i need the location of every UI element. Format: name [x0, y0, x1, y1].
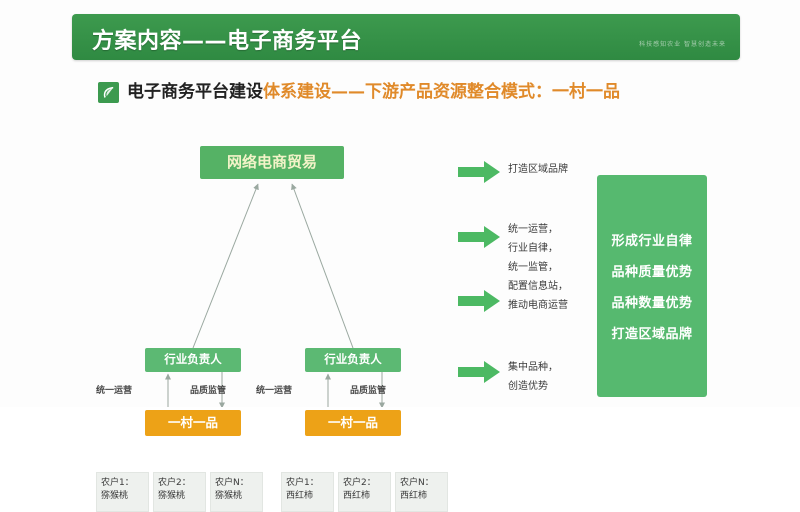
subtitle-row: 电子商务平台建设体系建设——下游产品资源整合模式：一村一品	[98, 82, 620, 103]
footer-faint-text	[590, 398, 800, 407]
subtitle-black: 电子商务平台建设	[127, 82, 263, 102]
node-industry-manager-left[interactable]: 行业负责人	[145, 348, 241, 372]
node-network-ecommerce-trade[interactable]: 网络电商贸易	[200, 146, 344, 179]
farmer-label-line1: 农户1：	[101, 477, 148, 490]
list-item[interactable]: 农户1： 猕猴桃	[96, 472, 149, 512]
farmer-label-line2: 西红柿	[400, 490, 447, 503]
arrow-note-operations-line2: 行业自律，	[508, 239, 558, 258]
node-one-village-one-product-right[interactable]: 一村一品	[305, 410, 401, 436]
arrow-note-operations-line1: 统一运营，	[508, 220, 558, 239]
right-arrow-icon	[458, 361, 500, 383]
farmer-label-line2: 猕猴桃	[101, 490, 148, 503]
arrow-note-operations-line4: 配置信息站，	[508, 277, 568, 296]
arrow-note-operations-line5: 推动电商运营	[508, 296, 568, 315]
arrow-note-concentrate-line1: 集中品种，	[508, 358, 558, 377]
list-item[interactable]: 农户2： 西红柿	[338, 472, 391, 512]
result-panel: 形成行业自律 品种质量优势 品种数量优势 打造区域品牌	[597, 175, 707, 397]
subtitle-orange: 体系建设——下游产品资源整合模式：一村一品	[263, 82, 620, 102]
right-arrow-icon	[458, 226, 500, 248]
list-item[interactable]: 农户N： 西红柿	[395, 472, 448, 512]
header-tagline: 科技感知农业 智慧创造未来	[639, 39, 726, 48]
list-item[interactable]: 农户1： 西红柿	[281, 472, 334, 512]
right-arrow-icon	[458, 161, 500, 183]
result-item: 打造区域品牌	[611, 323, 692, 342]
farmer-label-line1: 农户N：	[215, 477, 262, 490]
right-arrow-icon	[458, 290, 500, 312]
edge-label-unified-operation-left: 统一运营	[96, 383, 132, 396]
farmer-label-line2: 西红柿	[343, 490, 390, 503]
list-item[interactable]: 农户2： 猕猴桃	[153, 472, 206, 512]
subtitle-text: 电子商务平台建设体系建设——下游产品资源整合模式：一村一品	[127, 84, 620, 101]
leaf-icon	[98, 82, 119, 103]
list-item[interactable]: 农户N： 猕猴桃	[210, 472, 263, 512]
farmer-label-line2: 猕猴桃	[215, 490, 262, 503]
arrow-note-build-regional-brand: 打造区域品牌	[508, 160, 568, 179]
header-bar: 方案内容——电子商务平台 科技感知农业 智慧创造未来	[72, 14, 740, 60]
node-industry-manager-right[interactable]: 行业负责人	[305, 348, 401, 372]
result-item: 品种数量优势	[611, 292, 692, 311]
farmer-label-line1: 农户N：	[400, 477, 447, 490]
edge-label-unified-operation-right: 统一运营	[256, 383, 292, 396]
node-one-village-one-product-left[interactable]: 一村一品	[145, 410, 241, 436]
farmer-label-line2: 猕猴桃	[158, 490, 205, 503]
arrow-note-operations-line3: 统一监管，	[508, 258, 558, 277]
farmer-label-line1: 农户1：	[286, 477, 333, 490]
edge-label-quality-supervision-left: 品质监管	[190, 383, 226, 396]
slide-canvas: 方案内容——电子商务平台 科技感知农业 智慧创造未来 电子商务平台建设体系建设—…	[0, 0, 800, 407]
farmer-label-line1: 农户2：	[343, 477, 390, 490]
page-title: 方案内容——电子商务平台	[92, 23, 362, 55]
arrow-note-concentrate-line2: 创造优势	[508, 377, 548, 396]
farmer-label-line2: 西红柿	[286, 490, 333, 503]
edge-label-quality-supervision-right: 品质监管	[350, 383, 386, 396]
result-item: 形成行业自律	[611, 230, 692, 249]
result-item: 品种质量优势	[611, 261, 692, 280]
farmer-label-line1: 农户2：	[158, 477, 205, 490]
